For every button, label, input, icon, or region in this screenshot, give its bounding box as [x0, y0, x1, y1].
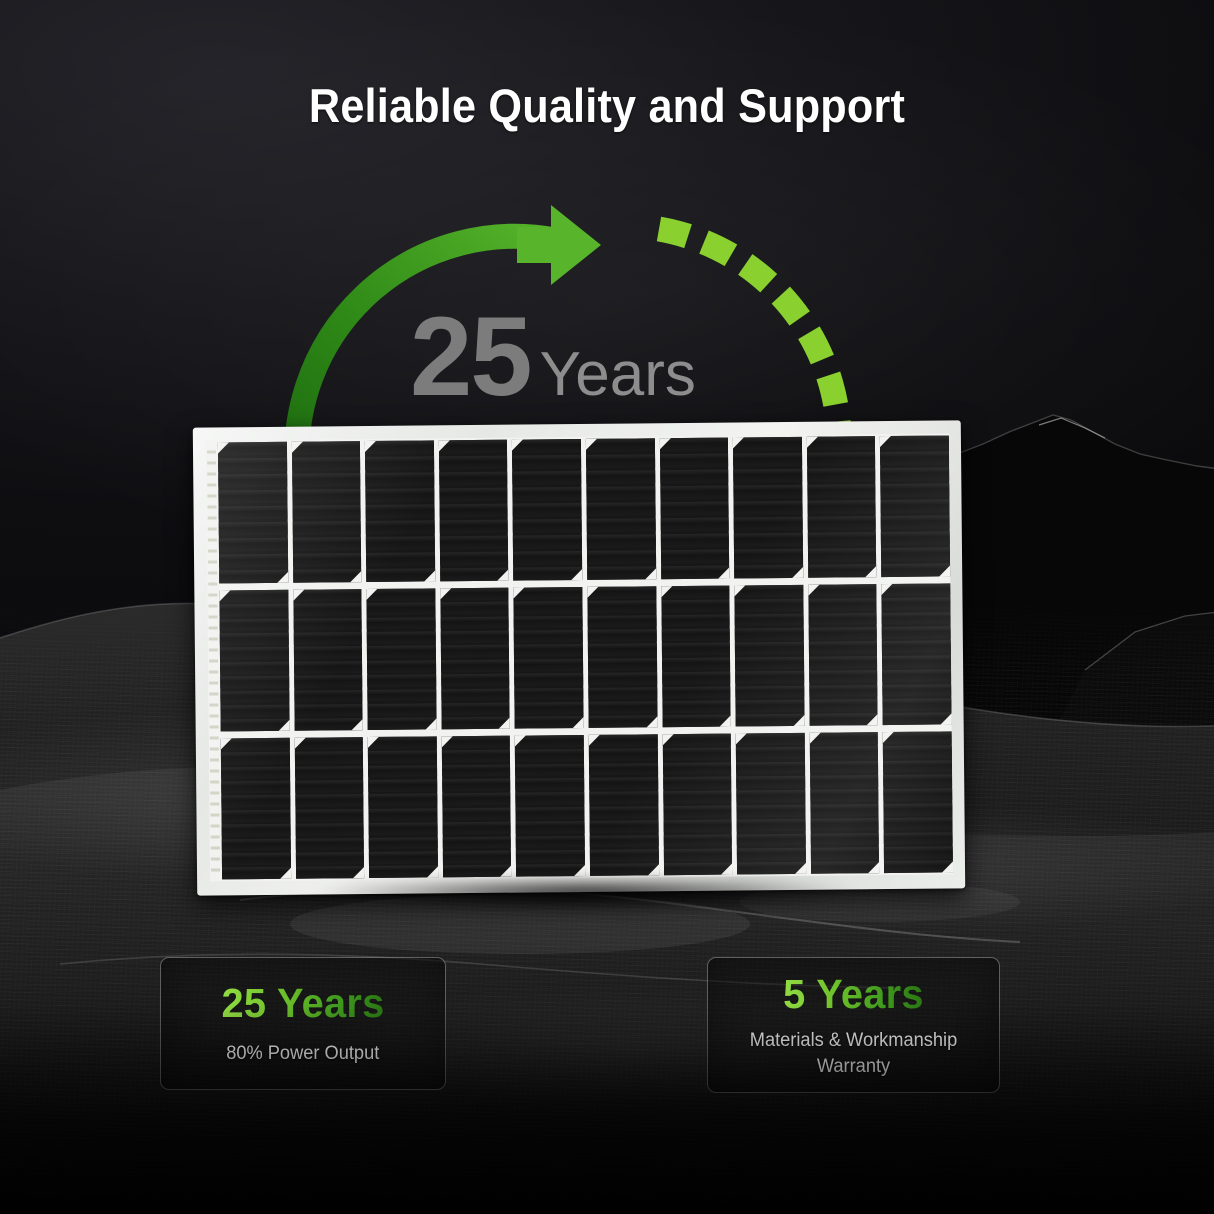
panel-cell-stripe: [809, 699, 878, 711]
panel-cell-stripe: [369, 837, 438, 849]
panel-cell-stripe: [662, 715, 731, 727]
panel-cell-stripe: [367, 603, 436, 615]
panel-cell-stripe: [736, 733, 805, 745]
panel-cell-stripe: [221, 752, 290, 764]
panel-cell-stripe: [368, 718, 437, 730]
panel-cell-stripe: [737, 819, 806, 831]
panel-cell-stripe: [663, 762, 732, 774]
page-title: Reliable Quality and Support: [49, 78, 1166, 133]
panel-cell-stripe: [660, 501, 729, 515]
warranty-card-power-output[interactable]: 25 Years 80% Power Output: [160, 957, 446, 1090]
panel-cell-stripe: [295, 780, 364, 792]
panel-cell-stripe: [884, 789, 953, 801]
panel-cell-stripe: [883, 731, 952, 743]
panel-cell-column: [219, 590, 289, 732]
panel-cell-column: [809, 732, 879, 874]
panel-cell-stripe: [221, 781, 290, 793]
panel-cell-stripe: [368, 703, 437, 715]
panel-cell-stripe: [736, 714, 805, 726]
panel-cell-stripe: [293, 553, 362, 567]
panel-cell-stripe: [586, 502, 655, 516]
panel-cell-stripe: [439, 440, 508, 454]
panel-cell-stripe: [661, 629, 730, 641]
panel-cell-stripe: [368, 779, 437, 791]
panel-cell-column: [659, 438, 729, 580]
panel-cell-stripe: [662, 734, 731, 746]
panel-cell-stripe: [292, 473, 361, 487]
panel-cell-stripe: [586, 470, 655, 484]
panel-cell-stripe: [439, 519, 508, 533]
panel-cell-stripe: [808, 627, 877, 639]
panel-cell-stripe: [587, 566, 656, 580]
panel-cell-stripe: [441, 659, 510, 671]
panel-cell-column: [807, 436, 877, 578]
panel-cell-column: [661, 586, 731, 728]
panel-cell-stripe: [810, 833, 879, 845]
panel-cell-stripe: [810, 775, 879, 787]
panel-cell-stripe: [221, 795, 290, 807]
panel-cell-stripe: [735, 614, 804, 626]
panel-cell-stripe: [512, 455, 581, 469]
panel-cell-stripe: [735, 642, 804, 654]
panel-cell-stripe: [440, 567, 509, 581]
panel-cell-stripe: [292, 489, 361, 503]
panel-cell-stripe: [513, 535, 582, 549]
panel-cell-stripe: [368, 765, 437, 777]
panel-cell-stripe: [736, 790, 805, 802]
panel-cell-column: [439, 440, 509, 582]
panel-cell-stripe: [588, 615, 657, 627]
panel-cell-stripe: [589, 763, 658, 775]
panel-cell-stripe: [515, 702, 584, 714]
panel-cell-stripe: [443, 865, 512, 877]
card-years-value: 25 Years: [221, 980, 384, 1027]
panel-cell-column: [586, 438, 656, 580]
panel-cell-stripe: [589, 806, 658, 818]
panel-cell-stripe: [294, 704, 363, 716]
panel-cell-stripe: [442, 822, 511, 834]
panel-cell-stripe: [660, 533, 729, 547]
panel-cell-grid: [206, 433, 953, 881]
panel-cell-stripe: [808, 584, 877, 596]
panel-cell-stripe: [587, 518, 656, 532]
panel-cell-stripe: [516, 821, 585, 833]
panel-cell-stripe: [441, 631, 510, 643]
panel-cell-stripe: [514, 587, 583, 599]
panel-cell-stripe: [218, 474, 287, 488]
panel-cell-stripe: [365, 472, 434, 486]
panel-cell-stripe: [515, 673, 584, 685]
panel-cell-stripe: [440, 616, 509, 628]
panel-cell-column: [882, 583, 952, 725]
panel-cell-stripe: [734, 485, 803, 499]
panel-cell-stripe: [808, 613, 877, 625]
panel-cell-stripe: [442, 764, 511, 776]
panel-cell-stripe: [516, 850, 585, 862]
panel-cell-stripe: [512, 439, 581, 453]
panel-cell-column: [808, 584, 878, 726]
panel-cell-stripe: [882, 670, 951, 682]
panel-cell-stripe: [883, 760, 952, 772]
panel-cell-stripe: [663, 834, 732, 846]
panel-cell-stripe: [442, 793, 511, 805]
panel-cell-stripe: [661, 600, 730, 612]
panel-cell-stripe: [295, 852, 364, 864]
panel-cell-stripe: [367, 646, 436, 658]
panel-cell-stripe: [220, 705, 289, 717]
panel-cell-column: [440, 588, 510, 730]
panel-cell-stripe: [736, 762, 805, 774]
panel-cell-stripe: [369, 866, 438, 878]
panel-cell-stripe: [218, 490, 287, 504]
panel-cell-stripe: [662, 700, 731, 712]
panel-cell-stripe: [292, 537, 361, 551]
panel-cell-column: [736, 733, 806, 875]
panel-cell-stripe: [293, 632, 362, 644]
panel-cell-stripe: [294, 737, 363, 749]
promo-stage: Reliable Quality and Support 25 Years: [0, 0, 1214, 1214]
panel-cell-stripe: [807, 468, 876, 482]
panel-cell-stripe: [881, 515, 950, 529]
card-years-value: 5 Years: [783, 971, 924, 1018]
panel-cell-column: [883, 731, 953, 873]
panel-cell-stripe: [590, 863, 659, 875]
panel-cell-stripe: [515, 716, 584, 728]
panel-cell-stripe: [513, 471, 582, 485]
panel-cell-stripe: [660, 485, 729, 499]
panel-cell-stripe: [367, 660, 436, 672]
panel-cell-stripe: [368, 736, 437, 748]
panel-cell-stripe: [884, 818, 953, 830]
panel-cell-stripe: [586, 486, 655, 500]
panel-cell-stripe: [296, 866, 365, 878]
panel-cell-stripe: [661, 586, 730, 598]
panel-cell-column: [368, 736, 438, 878]
panel-cell-stripe: [734, 533, 803, 547]
panel-cell-stripe: [441, 688, 510, 700]
panel-cell-stripe: [883, 698, 952, 710]
panel-cell-stripe: [442, 736, 511, 748]
panel-cell-stripe: [514, 659, 583, 671]
panel-cell-stripe: [440, 588, 509, 600]
panel-cell-stripe: [587, 601, 656, 613]
panel-cell-stripe: [737, 833, 806, 845]
panel-cell-stripe: [442, 750, 511, 762]
panel-cell-stripe: [440, 551, 509, 565]
panel-cell-stripe: [369, 851, 438, 863]
panel-cell-column: [367, 588, 437, 730]
panel-cell-stripe: [589, 749, 658, 761]
panel-cell-column: [734, 585, 804, 727]
panel-cell-column: [365, 440, 435, 582]
panel-cell-stripe: [882, 583, 951, 595]
panel-cell-column: [514, 587, 584, 729]
panel-cell-stripe: [514, 601, 583, 613]
panel-cell-stripe: [440, 602, 509, 614]
panel-cell-stripe: [663, 805, 732, 817]
panel-cell-stripe: [883, 775, 952, 787]
panel-cell-stripe: [220, 676, 289, 688]
panel-cell-stripe: [366, 520, 435, 534]
panel-cell-stripe: [365, 456, 434, 470]
panel-cell-stripe: [367, 588, 436, 600]
panel-cell-stripe: [809, 685, 878, 697]
panel-cell-stripe: [366, 552, 435, 566]
panel-cell-stripe: [810, 746, 879, 758]
panel-cell-stripe: [588, 687, 657, 699]
panel-cell-stripe: [587, 586, 656, 598]
panel-cell-stripe: [661, 614, 730, 626]
panel-cell-stripe: [293, 603, 362, 615]
panel-cell-stripe: [589, 792, 658, 804]
panel-cell-stripe: [367, 675, 436, 687]
panel-cell-stripe: [881, 563, 950, 577]
panel-cell-stripe: [220, 647, 289, 659]
panel-cell-stripe: [442, 779, 511, 791]
panel-cell-stripe: [662, 657, 731, 669]
panel-cell-stripe: [884, 861, 953, 873]
panel-cell-stripe: [367, 689, 436, 701]
panel-cell-stripe: [882, 598, 951, 610]
panel-ground-shadow: [205, 880, 965, 922]
panel-cell-stripe: [882, 612, 951, 624]
panel-cell-stripe: [737, 848, 806, 860]
panel-cell-stripe: [515, 749, 584, 761]
panel-cell-stripe: [441, 674, 510, 686]
panel-cell-stripe: [660, 454, 729, 468]
panel-cell-stripe: [810, 761, 879, 773]
panel-cell-stripe: [295, 838, 364, 850]
panel-cell-stripe: [293, 618, 362, 630]
panel-cell-column: [292, 441, 362, 583]
panel-cell-stripe: [736, 776, 805, 788]
panel-cell-stripe: [590, 835, 659, 847]
panel-cell-stripe: [221, 810, 290, 822]
panel-cell-stripe: [735, 671, 804, 683]
panel-cell-stripe: [366, 504, 435, 518]
panel-laminate: [206, 433, 953, 881]
panel-cell-stripe: [443, 851, 512, 863]
panel-cell-stripe: [294, 751, 363, 763]
panel-cell-stripe: [883, 746, 952, 758]
panel-cell-stripe: [810, 790, 879, 802]
panel-cell-stripe: [220, 633, 289, 645]
panel-cell-column: [515, 735, 585, 877]
panel-cell-stripe: [514, 644, 583, 656]
panel-cell-stripe: [514, 616, 583, 628]
panel-cell-stripe: [734, 501, 803, 515]
panel-cell-stripe: [516, 792, 585, 804]
panel-cell-stripe: [736, 747, 805, 759]
panel-cell-column: [293, 589, 363, 731]
panel-cell-stripe: [514, 567, 583, 581]
panel-cell-stripe: [292, 441, 361, 455]
panel-cell-stripe: [662, 748, 731, 760]
panel-cell-stripe: [661, 643, 730, 655]
panel-cell-stripe: [369, 823, 438, 835]
panel-cell-stripe: [588, 672, 657, 684]
panel-cell-stripe: [587, 534, 656, 548]
panel-cell-stripe: [295, 823, 364, 835]
panel-cell-stripe: [662, 672, 731, 684]
panel-cell-stripe: [734, 517, 803, 531]
panel-cell-stripe: [219, 569, 288, 583]
panel-cell-stripe: [882, 655, 951, 667]
panel-cell-column: [733, 437, 803, 579]
panel-cell-stripe: [661, 565, 730, 579]
panel-cell-stripe: [733, 437, 802, 451]
panel-cell-column: [512, 439, 582, 581]
panel-cell-stripe: [292, 521, 361, 535]
panel-cell-stripe: [881, 531, 950, 545]
panel-cell-column: [294, 737, 364, 879]
panel-cell-stripe: [808, 548, 877, 562]
panel-cell-stripe: [881, 483, 950, 497]
panel-cell-stripe: [810, 818, 879, 830]
panel-cell-stripe: [734, 564, 803, 578]
panel-cell-stripe: [366, 488, 435, 502]
panel-cell-stripe: [219, 590, 288, 602]
panel-cell-stripe: [366, 536, 435, 550]
panel-cell-stripe: [663, 848, 732, 860]
panel-cell-stripe: [515, 687, 584, 699]
panel-cell-stripe: [737, 862, 806, 874]
panel-cell-stripe: [292, 457, 361, 471]
panel-cell-stripe: [222, 824, 291, 836]
panel-cell-band: [219, 583, 951, 731]
panel-cell-stripe: [588, 701, 657, 713]
panel-cell-stripe: [295, 795, 364, 807]
panel-cell-column: [662, 734, 732, 876]
panel-cell-stripe: [659, 438, 728, 452]
panel-cell-stripe: [881, 467, 950, 481]
panel-cell-stripe: [294, 690, 363, 702]
panel-cell-stripe: [664, 863, 733, 875]
panel-cell-stripe: [369, 808, 438, 820]
panel-cell-stripe: [439, 472, 508, 486]
panel-cell-stripe: [809, 656, 878, 668]
panel-cell-stripe: [513, 487, 582, 501]
panel-cell-stripe: [292, 505, 361, 519]
panel-cell-stripe: [883, 713, 952, 725]
panel-cell-stripe: [588, 629, 657, 641]
panel-cell-stripe: [810, 804, 879, 816]
panel-cell-stripe: [808, 532, 877, 546]
panel-cell-stripe: [439, 503, 508, 517]
panel-cell-stripe: [808, 564, 877, 578]
warranty-card-materials[interactable]: 5 Years Materials & Workmanship Warranty: [707, 957, 1000, 1093]
panel-cell-stripe: [516, 864, 585, 876]
panel-cell-stripe: [513, 519, 582, 533]
panel-cell-column: [221, 738, 291, 880]
panel-cell-stripe: [293, 569, 362, 583]
panel-cell-stripe: [366, 568, 435, 582]
panel-cell-stripe: [807, 516, 876, 530]
panel-cell-stripe: [807, 436, 876, 450]
solar-panel: [193, 420, 965, 895]
panel-cell-stripe: [219, 553, 288, 567]
panel-cell-stripe: [220, 662, 289, 674]
panel-cell-stripe: [590, 849, 659, 861]
panel-cell-stripe: [660, 517, 729, 531]
panel-cell-stripe: [440, 535, 509, 549]
panel-cell-stripe: [807, 500, 876, 514]
panel-cell-column: [218, 442, 288, 584]
panel-cell-stripe: [808, 598, 877, 610]
panel-cell-stripe: [809, 732, 878, 744]
panel-cell-stripe: [662, 686, 731, 698]
panel-cell-stripe: [883, 684, 952, 696]
panel-cell-stripe: [515, 764, 584, 776]
panel-cell-stripe: [513, 551, 582, 565]
panel-cell-stripe: [513, 503, 582, 517]
panel-cell-column: [442, 736, 512, 878]
panel-cell-stripe: [807, 452, 876, 466]
card-subtitle: Materials & Workmanship Warranty: [714, 1028, 993, 1078]
panel-cell-stripe: [221, 719, 290, 731]
panel-cell-stripe: [294, 661, 363, 673]
panel-cell-stripe: [367, 631, 436, 643]
panel-cell-stripe: [807, 484, 876, 498]
panel-cell-band: [221, 731, 953, 879]
panel-cell-stripe: [881, 547, 950, 561]
panel-cell-stripe: [660, 469, 729, 483]
panel-cell-stripe: [882, 627, 951, 639]
panel-cell-stripe: [368, 794, 437, 806]
panel-cell-stripe: [441, 703, 510, 715]
panel-cell-stripe: [439, 456, 508, 470]
panel-cell-stripe: [589, 734, 658, 746]
panel-cell-stripe: [219, 506, 288, 520]
panel-cell-stripe: [221, 767, 290, 779]
panel-cell-stripe: [809, 642, 878, 654]
panel-cell-stripe: [514, 630, 583, 642]
panel-cell-stripe: [735, 628, 804, 640]
panel-cell-band: [218, 435, 950, 583]
panel-cell-stripe: [809, 713, 878, 725]
panel-cell-stripe: [663, 777, 732, 789]
panel-cell-stripe: [661, 549, 730, 563]
panel-cell-stripe: [293, 647, 362, 659]
panel-cell-stripe: [734, 585, 803, 597]
panel-cell-stripe: [663, 820, 732, 832]
panel-cell-stripe: [218, 442, 287, 456]
panel-cell-stripe: [516, 807, 585, 819]
panel-cell-stripe: [221, 738, 290, 750]
panel-cell-stripe: [735, 599, 804, 611]
panel-cell-stripe: [219, 522, 288, 536]
panel-cell-stripe: [222, 867, 291, 879]
panel-cell-stripe: [811, 847, 880, 859]
panel-cell-column: [587, 586, 657, 728]
panel-cell-stripe: [663, 791, 732, 803]
card-subtitle: 80% Power Output: [226, 1041, 379, 1066]
panel-cell-stripe: [295, 766, 364, 778]
panel-cell-column: [589, 734, 659, 876]
panel-cell-stripe: [589, 715, 658, 727]
panel-cell-stripe: [588, 658, 657, 670]
panel-cell-stripe: [586, 454, 655, 468]
panel-cell-stripe: [293, 589, 362, 601]
panel-cell-stripe: [222, 853, 291, 865]
panel-cell-stripe: [882, 641, 951, 653]
panel-cell-stripe: [515, 735, 584, 747]
panel-cell-stripe: [588, 644, 657, 656]
panel-cell-stripe: [884, 803, 953, 815]
panel-cell-stripe: [880, 435, 949, 449]
panel-cell-stripe: [811, 861, 880, 873]
panel-cell-stripe: [220, 619, 289, 631]
